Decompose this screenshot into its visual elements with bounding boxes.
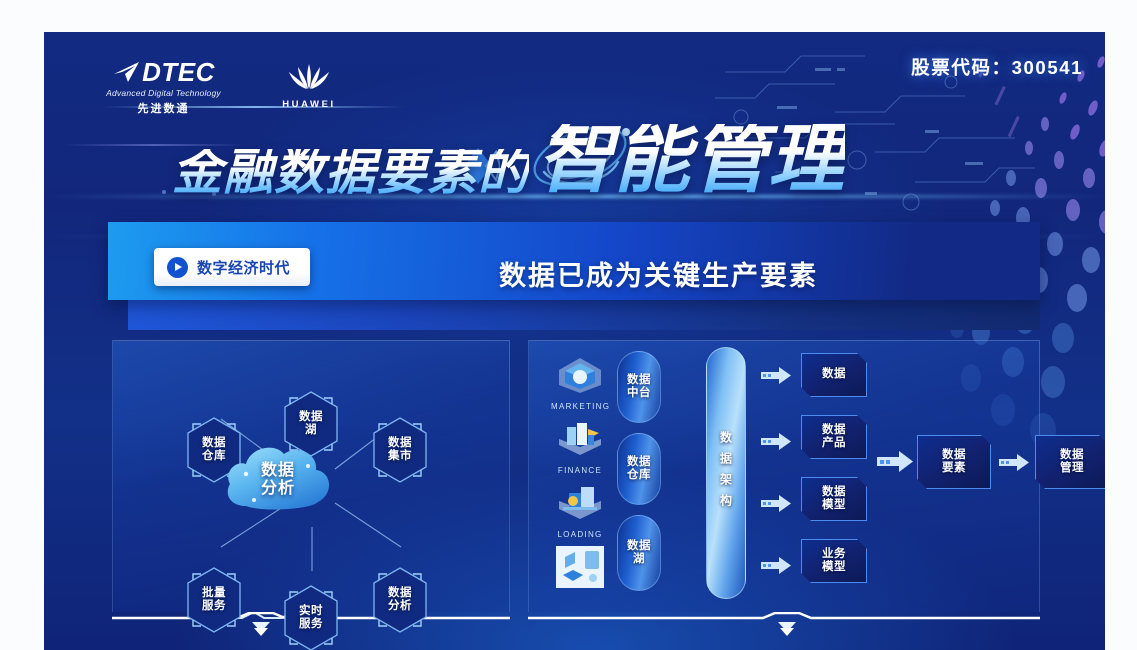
hex-node[interactable]: 实时服务	[280, 584, 342, 650]
hex-label-line1: 数据	[202, 437, 226, 449]
output-label-line1: 业务	[822, 548, 846, 560]
dashboard-icon	[555, 545, 605, 589]
dtec-logo: DTEC Advanced Digital Technology 先进数通	[91, 59, 236, 116]
output-label-line2: 模型	[822, 561, 846, 573]
platform-capsule[interactable]: 数据仓库	[617, 433, 661, 505]
arrow-icon	[999, 454, 1029, 471]
hex-node[interactable]: 数据分析	[369, 566, 431, 634]
arrow-icon	[761, 367, 791, 384]
hex-label-line1: 数据	[388, 437, 412, 449]
hex-label-line2: 集市	[388, 450, 412, 462]
title-part-1: 金融数据要素的	[172, 149, 529, 197]
hex-label-line2: 分析	[388, 600, 412, 612]
section-badge-label: 数字经济时代	[197, 257, 290, 278]
output-label-line1: 数据	[822, 424, 846, 436]
platform-line1: 数据	[627, 456, 651, 468]
banner-headline: 数据已成为关键生产要素	[499, 254, 818, 293]
platform-line1: 数据	[627, 540, 651, 552]
platform-capsule[interactable]: 数据中台	[617, 351, 661, 423]
platform-capsule[interactable]: 数据湖	[617, 515, 661, 591]
platform-line2: 湖	[633, 553, 645, 565]
final-label-line2: 要素	[942, 462, 966, 474]
final-label-line2: 管理	[1060, 462, 1084, 474]
platform-line1: 数据	[627, 374, 651, 386]
bank-icon	[555, 419, 605, 459]
hex-label-line2: 服务	[299, 618, 323, 630]
output-label: 数据	[822, 368, 846, 381]
hex-label-line2: 湖	[305, 424, 317, 436]
arrow-icon	[761, 557, 791, 574]
huawei-logo: HUAWEI	[270, 59, 348, 110]
output-label-line2: 产品	[822, 437, 846, 449]
hex-label-line1: 批量	[202, 587, 226, 599]
platform-line2: 仓库	[627, 469, 651, 481]
final-label-line1: 数据	[1060, 449, 1084, 461]
dtec-mark-icon	[112, 60, 142, 84]
arrow-icon	[761, 433, 791, 450]
banner-underbar	[128, 300, 1040, 330]
section-badge[interactable]: 数字经济时代	[154, 248, 310, 286]
hex-label-line1: 实时	[299, 605, 323, 617]
source-caption: MARKETING	[551, 402, 609, 411]
arrow-icon	[761, 495, 791, 512]
huawei-wordmark: HUAWEI	[270, 99, 348, 110]
platform-line2: 中台	[627, 387, 651, 399]
output-box[interactable]: 数据产品	[801, 415, 867, 459]
final-label-line1: 数据	[942, 449, 966, 461]
hex-label-line2: 服务	[202, 600, 226, 612]
title-block: 金融数据要素的 智能管理	[44, 124, 1105, 219]
hex-node[interactable]: 批量服务	[183, 566, 245, 634]
final-box[interactable]: 数据要素	[917, 435, 991, 489]
source-item[interactable]: MARKETING	[551, 355, 609, 411]
hex-label-line1: 数据	[388, 587, 412, 599]
hex-label-line2: 仓库	[202, 450, 226, 462]
presentation-slide: DTEC Advanced Digital Technology 先进数通 HU…	[44, 32, 1105, 650]
output-label-line2: 模型	[822, 499, 846, 511]
output-label-line1: 数据	[822, 486, 846, 498]
hex-node[interactable]: 数据集市	[369, 416, 431, 484]
cube-icon	[555, 355, 605, 395]
play-icon	[167, 257, 188, 278]
stock-code: 股票代码：300541	[911, 54, 1083, 80]
loading-icon	[555, 483, 605, 523]
logo-group: DTEC Advanced Digital Technology 先进数通 HU…	[91, 59, 348, 116]
source-item[interactable]: FINANCE	[551, 419, 609, 475]
right-diagram-panel: MARKETING FINANCE	[528, 340, 1040, 612]
slide-title: 金融数据要素的 智能管理	[172, 124, 845, 196]
source-item[interactable]: LOADING	[551, 483, 609, 539]
dtec-wordmark: DTEC	[142, 59, 215, 85]
arrow-icon	[877, 451, 913, 472]
source-caption: FINANCE	[551, 466, 609, 475]
source-item[interactable]	[551, 545, 609, 594]
output-box[interactable]: 业务模型	[801, 539, 867, 583]
hex-label-line1: 数据	[299, 411, 323, 423]
architecture-label: 数据架构	[718, 431, 735, 515]
dtec-tagline: Advanced Digital Technology	[91, 88, 236, 98]
output-box[interactable]: 数据模型	[801, 477, 867, 521]
screenshot-root: DTEC Advanced Digital Technology 先进数通 HU…	[0, 0, 1137, 650]
cloud-label-line1: 数据	[261, 462, 295, 480]
right-panel-footer	[528, 612, 1040, 648]
source-caption: LOADING	[551, 530, 609, 539]
cloud-node[interactable]: 数据 分析	[220, 432, 336, 516]
title-part-2: 智能管理	[537, 124, 845, 196]
dtec-chinese-name: 先进数通	[91, 100, 236, 116]
architecture-capsule[interactable]: 数据架构	[706, 347, 746, 599]
cloud-label-line2: 分析	[261, 480, 295, 498]
huawei-flower-icon	[287, 61, 331, 91]
output-box[interactable]: 数据	[801, 353, 867, 397]
final-box[interactable]: 数据管理	[1035, 435, 1105, 489]
